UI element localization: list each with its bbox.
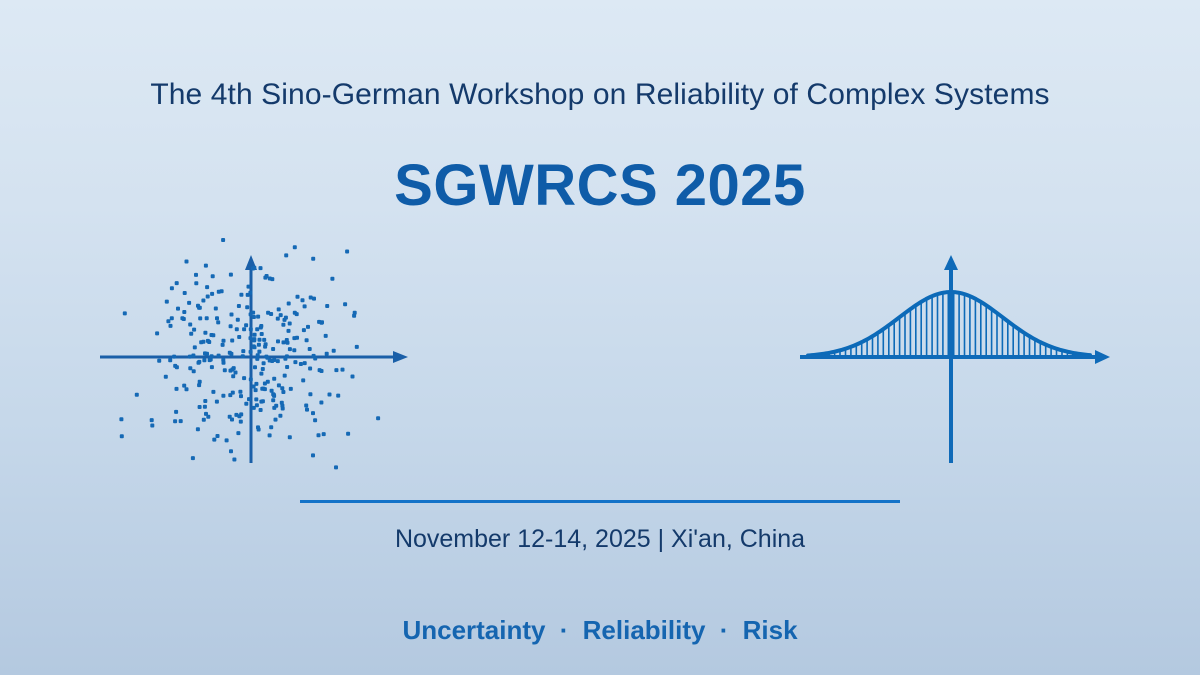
scatter-point: [277, 383, 281, 387]
scatter-point: [193, 345, 197, 349]
scatter-point: [202, 418, 206, 422]
scatter-point: [172, 355, 176, 359]
scatter-point: [170, 286, 174, 290]
scatter-point: [284, 253, 288, 257]
scatter-point: [278, 414, 282, 418]
scatter-point: [203, 331, 207, 335]
scatter-point: [288, 347, 292, 351]
scatter-point: [229, 449, 233, 453]
scatter-point: [173, 419, 177, 423]
scatter-point: [207, 340, 211, 344]
scatter-point: [179, 419, 183, 423]
scatter-point: [287, 329, 291, 333]
scatter-point: [197, 383, 201, 387]
scatter-point: [304, 404, 308, 408]
scatter-point: [234, 413, 238, 417]
scatter-point: [308, 367, 312, 371]
scatter-point: [308, 392, 312, 396]
scatter-point: [228, 351, 232, 355]
scatter-point: [228, 393, 232, 397]
scatter-point: [256, 353, 260, 357]
scatter-point: [262, 361, 266, 365]
scatter-point: [292, 336, 296, 340]
scatter-point: [210, 354, 214, 358]
scatter-point: [223, 368, 227, 372]
scatter-point: [280, 404, 284, 408]
scatter-point: [269, 312, 273, 316]
scatter-point: [173, 364, 177, 368]
scatter-point: [191, 354, 195, 358]
scatter-point: [211, 390, 215, 394]
scatter-point: [249, 312, 253, 316]
scatter-point: [255, 327, 259, 331]
scatter-point: [252, 344, 256, 348]
scatter-point: [196, 427, 200, 431]
scatter-point: [185, 387, 189, 391]
scatter-point: [317, 320, 321, 324]
scatter-point: [271, 398, 275, 402]
scatter-point: [166, 319, 170, 323]
keyword-separator: ·: [553, 615, 576, 645]
scatter-point: [269, 425, 273, 429]
scatter-plot-figure: [90, 235, 420, 475]
scatter-point: [288, 435, 292, 439]
scatter-point: [262, 338, 266, 342]
scatter-point: [198, 316, 202, 320]
scatter-point: [187, 301, 191, 305]
scatter-point: [324, 334, 328, 338]
scatter-point: [135, 393, 139, 397]
scatter-point: [242, 327, 246, 331]
scatter-point: [201, 299, 205, 303]
scatter-point: [265, 356, 269, 360]
scatter-point: [199, 340, 203, 344]
scatter-point: [208, 358, 212, 362]
scatter-point: [217, 354, 221, 358]
keyword-separator: ·: [713, 615, 736, 645]
scatter-point: [259, 372, 263, 376]
scatter-point: [247, 285, 251, 289]
scatter-point: [176, 307, 180, 311]
scatter-point: [301, 378, 305, 382]
scatter-point: [309, 296, 313, 300]
scatter-point: [192, 328, 196, 332]
scatter-point: [249, 350, 253, 354]
scatter-point: [305, 408, 309, 412]
scatter-point: [169, 324, 173, 328]
scatter-point: [268, 277, 272, 281]
scatter-point: [197, 306, 201, 310]
scatter-point: [328, 393, 332, 397]
scatter-point: [270, 359, 274, 363]
scatter-point: [288, 322, 292, 326]
event-details: November 12-14, 2025 | Xi'an, China: [0, 525, 1200, 554]
scatter-point: [180, 316, 184, 320]
scatter-point: [292, 348, 296, 352]
scatter-point: [203, 405, 207, 409]
scatter-point: [289, 387, 293, 391]
scatter-point: [237, 304, 241, 308]
scatter-point: [123, 311, 127, 315]
scatter-point: [336, 394, 340, 398]
scatter-point: [284, 316, 288, 320]
scatter-point: [188, 355, 192, 359]
scatter-point: [332, 349, 336, 353]
bell-curve-figure: [790, 235, 1120, 475]
scatter-point: [305, 338, 309, 342]
scatter-point: [272, 377, 276, 381]
scatter-point: [236, 318, 240, 322]
scatter-point: [221, 394, 225, 398]
scatter-point: [341, 368, 345, 372]
scatter-point: [308, 347, 312, 351]
scatter-point: [306, 325, 310, 329]
scatter-point: [293, 311, 297, 315]
scatter-point: [351, 375, 355, 379]
scatter-point: [320, 369, 324, 373]
scatter-point: [210, 292, 214, 296]
scatter-point: [303, 361, 307, 365]
scatter-point: [281, 390, 285, 394]
scatter-point: [272, 393, 276, 397]
scatter-point: [303, 304, 307, 308]
scatter-point: [346, 432, 350, 436]
scatter-point: [254, 382, 258, 386]
scatter-point: [205, 352, 209, 356]
scatter-point: [229, 369, 233, 373]
scatter-point: [229, 324, 233, 328]
scatter-point: [261, 367, 265, 371]
scatter-point: [239, 394, 243, 398]
scatter-point: [283, 374, 287, 378]
scatter-point: [212, 438, 216, 442]
scatter-point: [242, 376, 246, 380]
scatter-point: [239, 293, 243, 297]
scatter-point: [202, 358, 206, 362]
keyword-uncertainty: Uncertainty: [402, 615, 545, 645]
scatter-point: [155, 331, 159, 335]
scatter-point: [191, 456, 195, 460]
scatter-point: [168, 358, 172, 362]
scatter-point: [194, 281, 198, 285]
scatter-point: [205, 285, 209, 289]
scatter-point: [334, 465, 338, 469]
keywords-line: Uncertainty · Reliability · Risk: [0, 615, 1200, 646]
scatter-point: [249, 336, 253, 340]
scatter-point: [205, 316, 209, 320]
scatter-point: [238, 390, 242, 394]
scatter-point: [276, 317, 280, 321]
scatter-point: [222, 339, 226, 343]
scatter-point: [343, 302, 347, 306]
bell-curve-svg: [790, 235, 1120, 475]
scatter-point: [317, 433, 321, 437]
scatter-point: [277, 307, 281, 311]
scatter-point: [182, 310, 186, 314]
scatter-point: [325, 304, 329, 308]
scatter-point: [222, 361, 226, 365]
scatter-point: [249, 377, 253, 381]
scatter-point: [353, 311, 357, 315]
scatter-point: [214, 307, 218, 311]
scatter-point: [355, 345, 359, 349]
scatter-point: [252, 406, 256, 410]
scatter-point: [236, 431, 240, 435]
scatter-point: [192, 369, 196, 373]
scatter-point: [210, 333, 214, 337]
page-title: The 4th Sino-German Workshop on Reliabil…: [0, 78, 1200, 112]
scatter-point: [150, 424, 154, 428]
scatter-point: [261, 399, 265, 403]
scatter-point: [188, 323, 192, 327]
scatter-point: [299, 362, 303, 366]
scatter-point: [215, 316, 219, 320]
scatter-point: [301, 298, 305, 302]
scatter-point: [293, 360, 297, 364]
scatter-point: [313, 418, 317, 422]
scatter-point: [204, 264, 208, 268]
scatter-point: [256, 425, 260, 429]
scatter-point: [263, 276, 267, 280]
scatter-point: [175, 387, 179, 391]
scatter-point: [170, 316, 174, 320]
scatter-point: [248, 291, 252, 295]
scatter-point: [330, 277, 334, 281]
scatter-point: [285, 365, 289, 369]
scatter-point: [157, 359, 161, 363]
scatter-point: [312, 354, 316, 358]
scatter-point: [210, 365, 214, 369]
scatter-point: [120, 434, 124, 438]
scatter-point: [229, 273, 233, 277]
scatter-point: [165, 300, 169, 304]
scatter-point: [259, 324, 263, 328]
scatter-point: [247, 397, 251, 401]
scatter-point: [244, 402, 248, 406]
scatter-point: [198, 380, 202, 384]
scatter-point: [286, 341, 290, 345]
conference-acronym: SGWRCS 2025: [0, 152, 1200, 219]
scatter-point: [215, 400, 219, 404]
scatter-point: [282, 340, 286, 344]
scatter-point: [197, 360, 201, 364]
scatter-point: [376, 416, 380, 420]
scatter-point: [345, 250, 349, 254]
scatter-point: [260, 332, 264, 336]
scatter-axes: [100, 255, 408, 463]
scatter-point: [194, 273, 198, 277]
scatter-point: [255, 357, 259, 361]
scatter-point: [221, 343, 225, 347]
scatter-point: [252, 266, 256, 270]
scatter-point: [302, 328, 306, 332]
scatter-point: [241, 354, 245, 358]
scatter-point: [189, 332, 193, 336]
scatter-point: [254, 388, 258, 392]
scatter-point: [258, 338, 262, 342]
scatter-point: [252, 337, 256, 341]
scatter-point: [230, 313, 234, 317]
scatter-point: [257, 350, 261, 354]
scatter-point: [256, 315, 260, 319]
scatter-point: [231, 374, 235, 378]
scatter-point: [244, 323, 248, 327]
scatter-point: [268, 433, 272, 437]
scatter-point: [232, 458, 236, 462]
scatter-point: [239, 420, 243, 424]
scatter-point: [296, 295, 300, 299]
scatter-point: [235, 327, 239, 331]
scatter-point: [325, 352, 329, 356]
scatter-point: [334, 368, 338, 372]
scatter-point: [280, 386, 284, 390]
scatter-point: [241, 349, 245, 353]
scatter-point: [319, 401, 323, 405]
scatter-point: [164, 375, 168, 379]
scatter-point: [216, 320, 220, 324]
scatter-plot-svg: [90, 235, 420, 475]
scatter-point: [217, 290, 221, 294]
scatter-point: [257, 343, 261, 347]
scatter-point: [237, 335, 241, 339]
scatter-point: [274, 418, 278, 422]
scatter-point: [270, 389, 274, 393]
scatter-point: [174, 410, 178, 414]
scatter-point: [271, 347, 275, 351]
scatter-point: [182, 384, 186, 388]
scatter-point: [259, 408, 263, 412]
scatter-point: [311, 453, 315, 457]
scatter-point: [259, 266, 263, 270]
scatter-point: [245, 305, 249, 309]
scatter-point: [221, 238, 225, 242]
scatter-point: [206, 415, 210, 419]
section-divider: [300, 500, 900, 503]
scatter-point: [211, 274, 215, 278]
scatter-point: [230, 339, 234, 343]
scatter-point: [285, 354, 289, 358]
scatter-point: [264, 342, 268, 346]
scatter-point: [263, 387, 267, 391]
keyword-risk: Risk: [743, 615, 798, 645]
keyword-reliability: Reliability: [583, 615, 706, 645]
scatter-point: [281, 323, 285, 327]
scatter-point: [276, 339, 280, 343]
scatter-point: [274, 404, 278, 408]
conference-poster: The 4th Sino-German Workshop on Reliabil…: [0, 0, 1200, 675]
scatter-point: [230, 418, 234, 422]
scatter-point: [287, 302, 291, 306]
scatter-point: [249, 327, 253, 331]
scatter-point: [150, 418, 154, 422]
scatter-point: [254, 397, 258, 401]
scatter-point: [198, 405, 202, 409]
scatter-point: [293, 245, 297, 249]
scatter-point: [276, 359, 280, 363]
scatter-point: [119, 417, 123, 421]
scatter-point: [322, 432, 326, 436]
scatter-point: [311, 411, 315, 415]
scatter-point: [175, 281, 179, 285]
scatter-point: [225, 438, 229, 442]
scatter-point: [216, 434, 220, 438]
scatter-point: [311, 257, 315, 261]
scatter-point: [203, 399, 207, 403]
scatter-point: [183, 291, 187, 295]
scatter-point: [185, 260, 189, 264]
scatter-point: [206, 295, 210, 299]
scatter-point: [266, 380, 270, 384]
scatter-point: [253, 333, 257, 337]
scatter-point: [253, 365, 257, 369]
scatter-point: [188, 366, 192, 370]
scatter-point: [279, 313, 283, 317]
bell-curve-axes: [800, 255, 1110, 463]
